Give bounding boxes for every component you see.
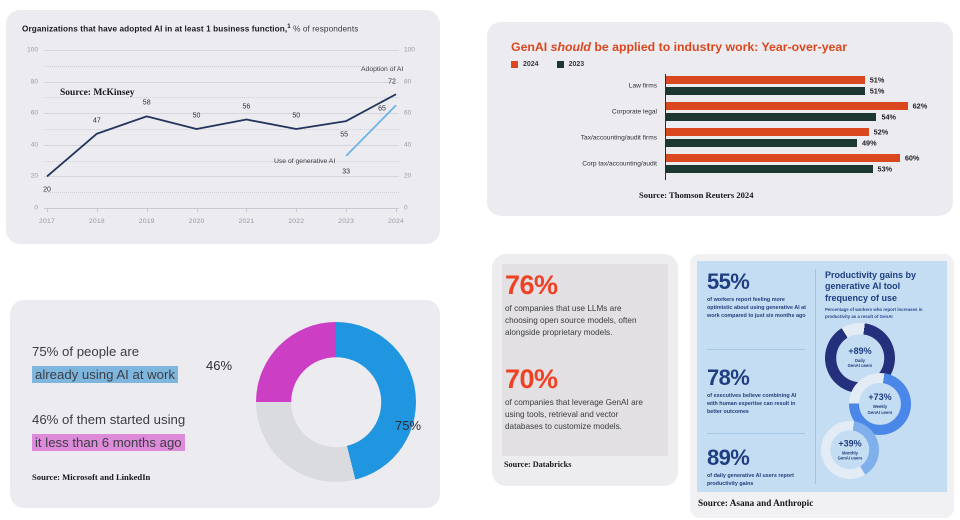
mckinsey-x-tickmark <box>197 208 198 212</box>
asana-stat-body: of workers report feeling more optimisti… <box>707 296 807 320</box>
mckinsey-data-label: 65 <box>378 106 386 113</box>
reuters-bar-value: 52% <box>874 128 889 137</box>
asana-ring-caption: MonthlyGenAI users <box>838 450 863 461</box>
mckinsey-x-tickmark <box>296 208 297 212</box>
mckinsey-y-tick-left: 60 <box>20 110 38 117</box>
mckinsey-title-bold: Organizations that have adopted AI in at… <box>22 25 287 34</box>
databricks-source-label: Source: Databricks <box>504 460 571 469</box>
mckinsey-y-tick-right: 100 <box>404 47 422 54</box>
mckinsey-x-tickmark <box>47 208 48 212</box>
databricks-stat-percent: 76% <box>505 272 655 299</box>
mckinsey-data-label: 72 <box>388 79 396 86</box>
reuters-bar <box>666 113 876 121</box>
databricks-stat-percent: 70% <box>505 366 655 393</box>
mckinsey-x-tickmark <box>346 208 347 212</box>
asana-source-label: Source: Asana and Anthropic <box>698 498 813 508</box>
reuters-bar-value: 49% <box>862 139 877 148</box>
asana-stat-percent: 89% <box>707 447 807 469</box>
microsoft-line1-plain: 75% of people are <box>32 344 139 359</box>
asana-divider-rule <box>707 433 805 434</box>
asana-stat-percent: 55% <box>707 271 807 293</box>
reuters-bar <box>666 76 865 84</box>
reuters-category-label: Corp tax/accounting/audit <box>582 161 657 168</box>
mckinsey-data-label: 50 <box>292 113 300 120</box>
panel-mckinsey-adoption-chart: Organizations that have adopted AI in at… <box>6 10 440 244</box>
asana-stat-block: 78% of executives believe combining AI w… <box>707 367 807 416</box>
asana-column-divider <box>815 269 816 484</box>
mckinsey-series-line <box>346 105 396 156</box>
microsoft-donut-label-75: 75% <box>395 418 421 433</box>
asana-stat-body: of daily generative AI users report prod… <box>707 472 807 488</box>
mckinsey-x-tickmark <box>396 208 397 212</box>
asana-right-title: Productivity gains by generative AI tool… <box>825 270 940 304</box>
asana-ring-hole: +73%WeeklyGenAI users <box>859 383 901 425</box>
asana-stat-block: 89% of daily generative AI users report … <box>707 447 807 488</box>
reuters-source-label: Source: Thomson Reuters 2024 <box>639 190 754 200</box>
reuters-bar-value: 53% <box>878 165 893 174</box>
databricks-stat-block: 70% of companies that leverage GenAI are… <box>505 366 655 433</box>
microsoft-donut-label-46: 46% <box>206 358 232 373</box>
mckinsey-series-label-adoption: Adoption of AI <box>361 66 403 73</box>
microsoft-line2-plain: 46% of them started using <box>32 412 185 427</box>
mckinsey-y-tick-left: 40 <box>20 141 38 148</box>
microsoft-source-label: Source: Microsoft and LinkedIn <box>32 472 150 482</box>
asana-right-subtitle: Percentage of workers who report increas… <box>825 307 937 320</box>
reuters-legend: 20242023 <box>511 61 584 68</box>
mckinsey-data-label: 20 <box>43 187 51 194</box>
mckinsey-y-tick-left: 100 <box>20 47 38 54</box>
microsoft-line2-highlight: it less than 6 months ago <box>32 434 185 451</box>
mckinsey-data-label: 55 <box>340 132 348 139</box>
microsoft-line1-highlight: already using AI at work <box>32 366 178 383</box>
reuters-category-label: Corporate legal <box>612 109 657 116</box>
reuters-bar <box>666 87 865 95</box>
asana-ring-caption: DailyGenAI users <box>848 358 873 369</box>
reuters-title-pre: GenAI <box>511 40 551 54</box>
asana-inner-box: 55% of workers report feeling more optim… <box>697 261 947 492</box>
mckinsey-x-tick: 2022 <box>288 218 304 225</box>
reuters-bar-value: 60% <box>905 154 920 163</box>
mckinsey-line-series <box>44 50 399 208</box>
mckinsey-y-tick-left: 80 <box>20 78 38 85</box>
asana-ring-percent: +39% <box>838 439 861 448</box>
reuters-bar <box>666 165 873 173</box>
reuters-title-emphasis: should <box>551 40 591 54</box>
reuters-bar <box>666 128 869 136</box>
mckinsey-x-tick: 2020 <box>189 218 205 225</box>
asana-divider-rule <box>707 349 805 350</box>
reuters-bar-value: 51% <box>870 76 885 85</box>
mckinsey-x-tickmark <box>147 208 148 212</box>
mckinsey-y-tick-right: 20 <box>404 173 422 180</box>
asana-stat-body: of executives believe combining AI with … <box>707 392 807 416</box>
databricks-stat-body: of companies that use LLMs are choosing … <box>505 303 655 339</box>
mckinsey-x-tick: 2023 <box>338 218 354 225</box>
asana-ring-hole: +39%MonthlyGenAI users <box>830 430 869 469</box>
mckinsey-data-label: 47 <box>93 117 101 124</box>
reuters-legend-label: 2024 <box>523 61 539 68</box>
mckinsey-x-tick: 2019 <box>139 218 155 225</box>
mckinsey-x-tick: 2024 <box>388 218 404 225</box>
reuters-title-post: be applied to industry work: Year-over-y… <box>591 40 847 54</box>
panel-databricks-stats: 76% of companies that use LLMs are choos… <box>492 254 678 486</box>
mckinsey-y-tick-right: 0 <box>404 205 422 212</box>
mckinsey-chart-title: Organizations that have adopted AI in at… <box>22 24 358 34</box>
microsoft-line1-highlight-wrapper: already using AI at work <box>32 366 178 383</box>
reuters-bar <box>666 139 857 147</box>
mckinsey-data-label: 58 <box>143 100 151 107</box>
reuters-chart-title: GenAI should be applied to industry work… <box>511 40 847 54</box>
reuters-bar <box>666 154 900 162</box>
reuters-bar <box>666 102 908 110</box>
reuters-bar-value: 51% <box>870 87 885 96</box>
microsoft-line2-highlight-wrapper: it less than 6 months ago <box>32 434 185 451</box>
panel-microsoft-linkedin-donut: 75% of people are already using AI at wo… <box>10 300 440 508</box>
mckinsey-x-tickmark <box>97 208 98 212</box>
asana-ring-caption: WeeklyGenAI users <box>868 404 893 415</box>
reuters-legend-item: 2023 <box>557 61 585 68</box>
reuters-bar-value: 62% <box>913 102 928 111</box>
reuters-legend-swatch <box>557 61 564 68</box>
reuters-category-label: Tax/accounting/audit firms <box>581 135 657 142</box>
mckinsey-x-tick: 2017 <box>39 218 55 225</box>
asana-ring-percent: +89% <box>848 347 871 356</box>
mckinsey-title-thin: % of respondents <box>291 25 359 34</box>
reuters-legend-item: 2024 <box>511 61 539 68</box>
mckinsey-series-label-genai: Use of generative AI <box>274 158 335 165</box>
reuters-legend-label: 2023 <box>569 61 585 68</box>
mckinsey-x-tickmark <box>246 208 247 212</box>
reuters-bar-value: 54% <box>881 113 896 122</box>
mckinsey-data-label: 50 <box>193 113 201 120</box>
reuters-plot-area: Law firms51%51%Corporate legal62%54%Tax/… <box>511 74 931 180</box>
databricks-stat-body: of companies that leverage GenAI are usi… <box>505 397 655 433</box>
panel-asana-anthropic-stats: 55% of workers report feeling more optim… <box>690 254 954 518</box>
mckinsey-data-label: 56 <box>243 103 251 110</box>
mckinsey-y-tick-right: 40 <box>404 141 422 148</box>
microsoft-donut-hole <box>291 357 381 447</box>
databricks-stat-block: 76% of companies that use LLMs are choos… <box>505 272 655 339</box>
asana-stat-block: 55% of workers report feeling more optim… <box>707 271 807 320</box>
mckinsey-y-tick-left: 20 <box>20 173 38 180</box>
microsoft-donut-chart <box>256 322 416 482</box>
mckinsey-y-tick-right: 60 <box>404 110 422 117</box>
panel-thomson-reuters-bar-chart: GenAI should be applied to industry work… <box>487 22 953 216</box>
reuters-category-label: Law firms <box>629 83 657 90</box>
asana-ring-percent: +73% <box>868 393 891 402</box>
mckinsey-data-label: 33 <box>342 168 350 175</box>
mckinsey-x-tick: 2018 <box>89 218 105 225</box>
reuters-legend-swatch <box>511 61 518 68</box>
asana-stat-percent: 78% <box>707 367 807 389</box>
mckinsey-x-tick: 2021 <box>238 218 254 225</box>
mckinsey-y-tick-left: 0 <box>20 205 38 212</box>
mckinsey-y-tick-right: 80 <box>404 78 422 85</box>
infographic-collage: Organizations that have adopted AI in at… <box>0 0 960 520</box>
asana-ring-gauge: +39%MonthlyGenAI users <box>821 421 879 479</box>
